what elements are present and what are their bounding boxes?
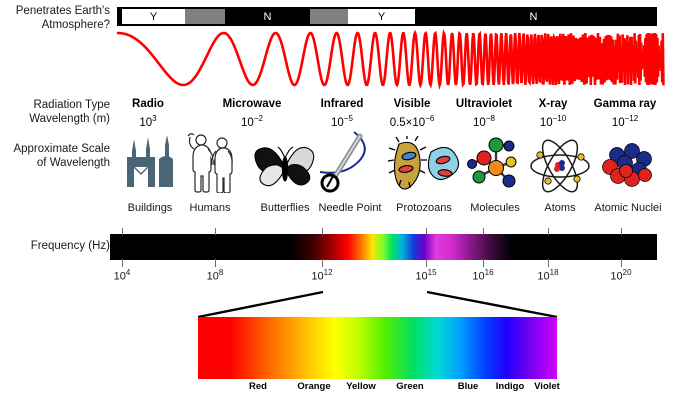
- freq-tick-top-1: [215, 228, 216, 235]
- penetrates-segment-0: Y: [122, 9, 185, 24]
- freq-tick-top-4: [483, 228, 484, 235]
- frequency-spectrum-bar: [110, 234, 657, 260]
- freq-tick-label-2: 1012: [282, 268, 362, 283]
- wavelength-value-6: 10−12: [555, 114, 675, 129]
- freq-tick-bottom-1: [215, 259, 216, 267]
- molecule-icon: [458, 136, 532, 199]
- freq-tick-bottom-3: [426, 259, 427, 267]
- freq-tick-label-1: 108: [175, 268, 255, 283]
- penetrates-segment-4: Y: [348, 9, 415, 24]
- freq-tick-label-0: 104: [82, 268, 162, 283]
- zoom-funnel-lines: [0, 285, 675, 320]
- nucleus-icon: [591, 139, 665, 198]
- approximate-scale-label: Approximate Scale of Wavelength: [0, 143, 110, 170]
- electromagnetic-wave-graphic: [110, 28, 670, 90]
- needle-icon: [313, 128, 387, 199]
- freq-tick-label-5: 1018: [508, 268, 588, 283]
- penetrates-atmosphere-label: Penetrates Earth's Atmosphere?: [0, 5, 110, 32]
- butterfly-icon: [248, 140, 322, 201]
- freq-tick-bottom-2: [322, 259, 323, 267]
- protozoa-icon: [387, 136, 461, 199]
- visible-spectrum-bar: [198, 317, 557, 379]
- scale-item-label-7: Atomic Nuclei: [568, 202, 675, 214]
- freq-tick-bottom-0: [122, 259, 123, 267]
- visible-color-label-violet: Violet: [507, 381, 587, 392]
- freq-tick-bottom-5: [548, 259, 549, 267]
- freq-tick-top-0: [122, 228, 123, 235]
- em-spectrum-diagram: Penetrates Earth's Atmosphere? Radiation…: [0, 0, 675, 400]
- freq-tick-bottom-6: [621, 259, 622, 267]
- penetrates-segment-1: [185, 9, 225, 24]
- freq-tick-top-2: [322, 228, 323, 235]
- radiation-type-gamma-ray: Gamma ray: [555, 98, 675, 110]
- frequency-label: Frequency (Hz): [0, 240, 110, 254]
- penetrates-segment-5: N: [415, 9, 652, 24]
- penetrates-atmosphere-bar: YNYN: [117, 7, 657, 26]
- penetrates-segment-3: [310, 9, 348, 24]
- freq-tick-bottom-4: [483, 259, 484, 267]
- freq-tick-label-6: 1020: [581, 268, 661, 283]
- human-figures-icon: [173, 131, 247, 198]
- atom-icon: [523, 139, 597, 198]
- freq-tick-top-6: [621, 228, 622, 235]
- freq-tick-top-3: [426, 228, 427, 235]
- penetrates-segment-2: N: [225, 9, 310, 24]
- freq-tick-top-5: [548, 228, 549, 235]
